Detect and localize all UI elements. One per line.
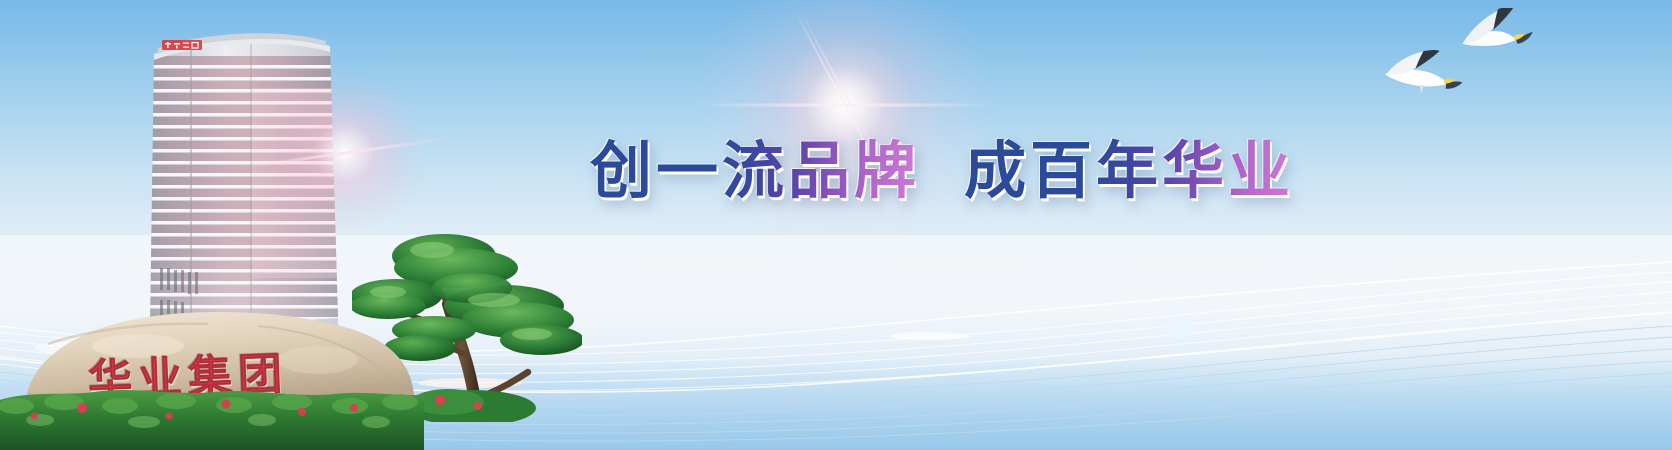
slogan-part-2: 成百年华业 [964, 134, 1294, 207]
flying-seagulls [1380, 8, 1550, 113]
hero-banner: 华业集团 [0, 0, 1672, 450]
banner-slogan: 创一流品牌成百年华业 [590, 132, 1294, 210]
flowering-hedge [0, 382, 424, 450]
sun-flare-icon [700, 0, 990, 250]
slogan-part-1: 创一流品牌 [590, 134, 920, 207]
headquarters-tower [132, 18, 352, 348]
building-sign [162, 40, 202, 50]
